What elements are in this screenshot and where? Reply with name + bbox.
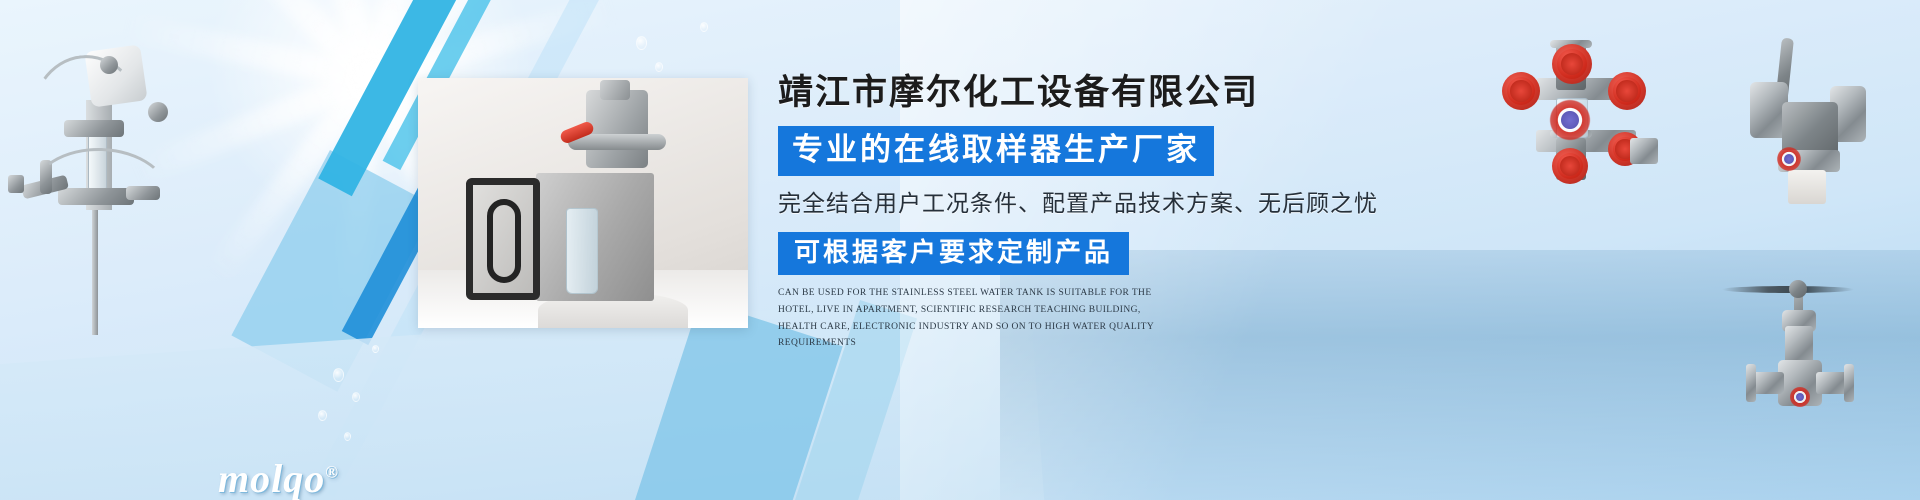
bottom-right-equipment-image — [1700, 230, 1920, 430]
english-description: CAN BE USED FOR THE STAINLESS STEEL WATE… — [778, 285, 1174, 352]
water-droplet-icon — [344, 432, 351, 441]
water-droplet-icon — [655, 62, 663, 72]
right-equipment-image — [1690, 20, 1910, 220]
registered-mark: ® — [325, 463, 339, 482]
promo-banner: 靖江市摩尔化工设备有限公司 专业的在线取样器生产厂家 完全结合用户工况条件、配置… — [0, 0, 1920, 500]
water-droplet-icon — [333, 368, 344, 382]
valve-handwheel — [1552, 44, 1592, 84]
water-droplet-icon — [352, 392, 360, 402]
company-name: 靖江市摩尔化工设备有限公司 — [778, 72, 1398, 114]
company-seal-icon — [1789, 386, 1811, 408]
diagonal-stripe — [231, 150, 436, 392]
product-photo — [418, 78, 748, 328]
callout-highlight: 可根据客户要求定制产品 — [778, 232, 1129, 276]
banner-text-block: 靖江市摩尔化工设备有限公司 专业的在线取样器生产厂家 完全结合用户工况条件、配置… — [778, 72, 1398, 352]
valve-handwheel — [1502, 72, 1540, 110]
watermark-text: molqo — [218, 456, 325, 500]
company-seal-icon — [1548, 98, 1592, 142]
valve-handwheel — [1608, 72, 1646, 110]
water-droplet-icon — [318, 410, 327, 421]
water-droplet-icon — [700, 22, 708, 32]
sub-headline: 完全结合用户工况条件、配置产品技术方案、无后顾之忧 — [778, 189, 1398, 219]
watermark-logo: molqo® — [218, 455, 339, 500]
company-seal-icon — [1776, 146, 1802, 172]
water-droplet-icon — [372, 345, 379, 353]
valve-handwheel — [1552, 148, 1588, 184]
headline-highlight: 专业的在线取样器生产厂家 — [778, 126, 1214, 176]
top-right-equipment-image — [1480, 30, 1680, 180]
left-equipment-image — [0, 20, 200, 280]
water-droplet-icon — [636, 36, 647, 50]
